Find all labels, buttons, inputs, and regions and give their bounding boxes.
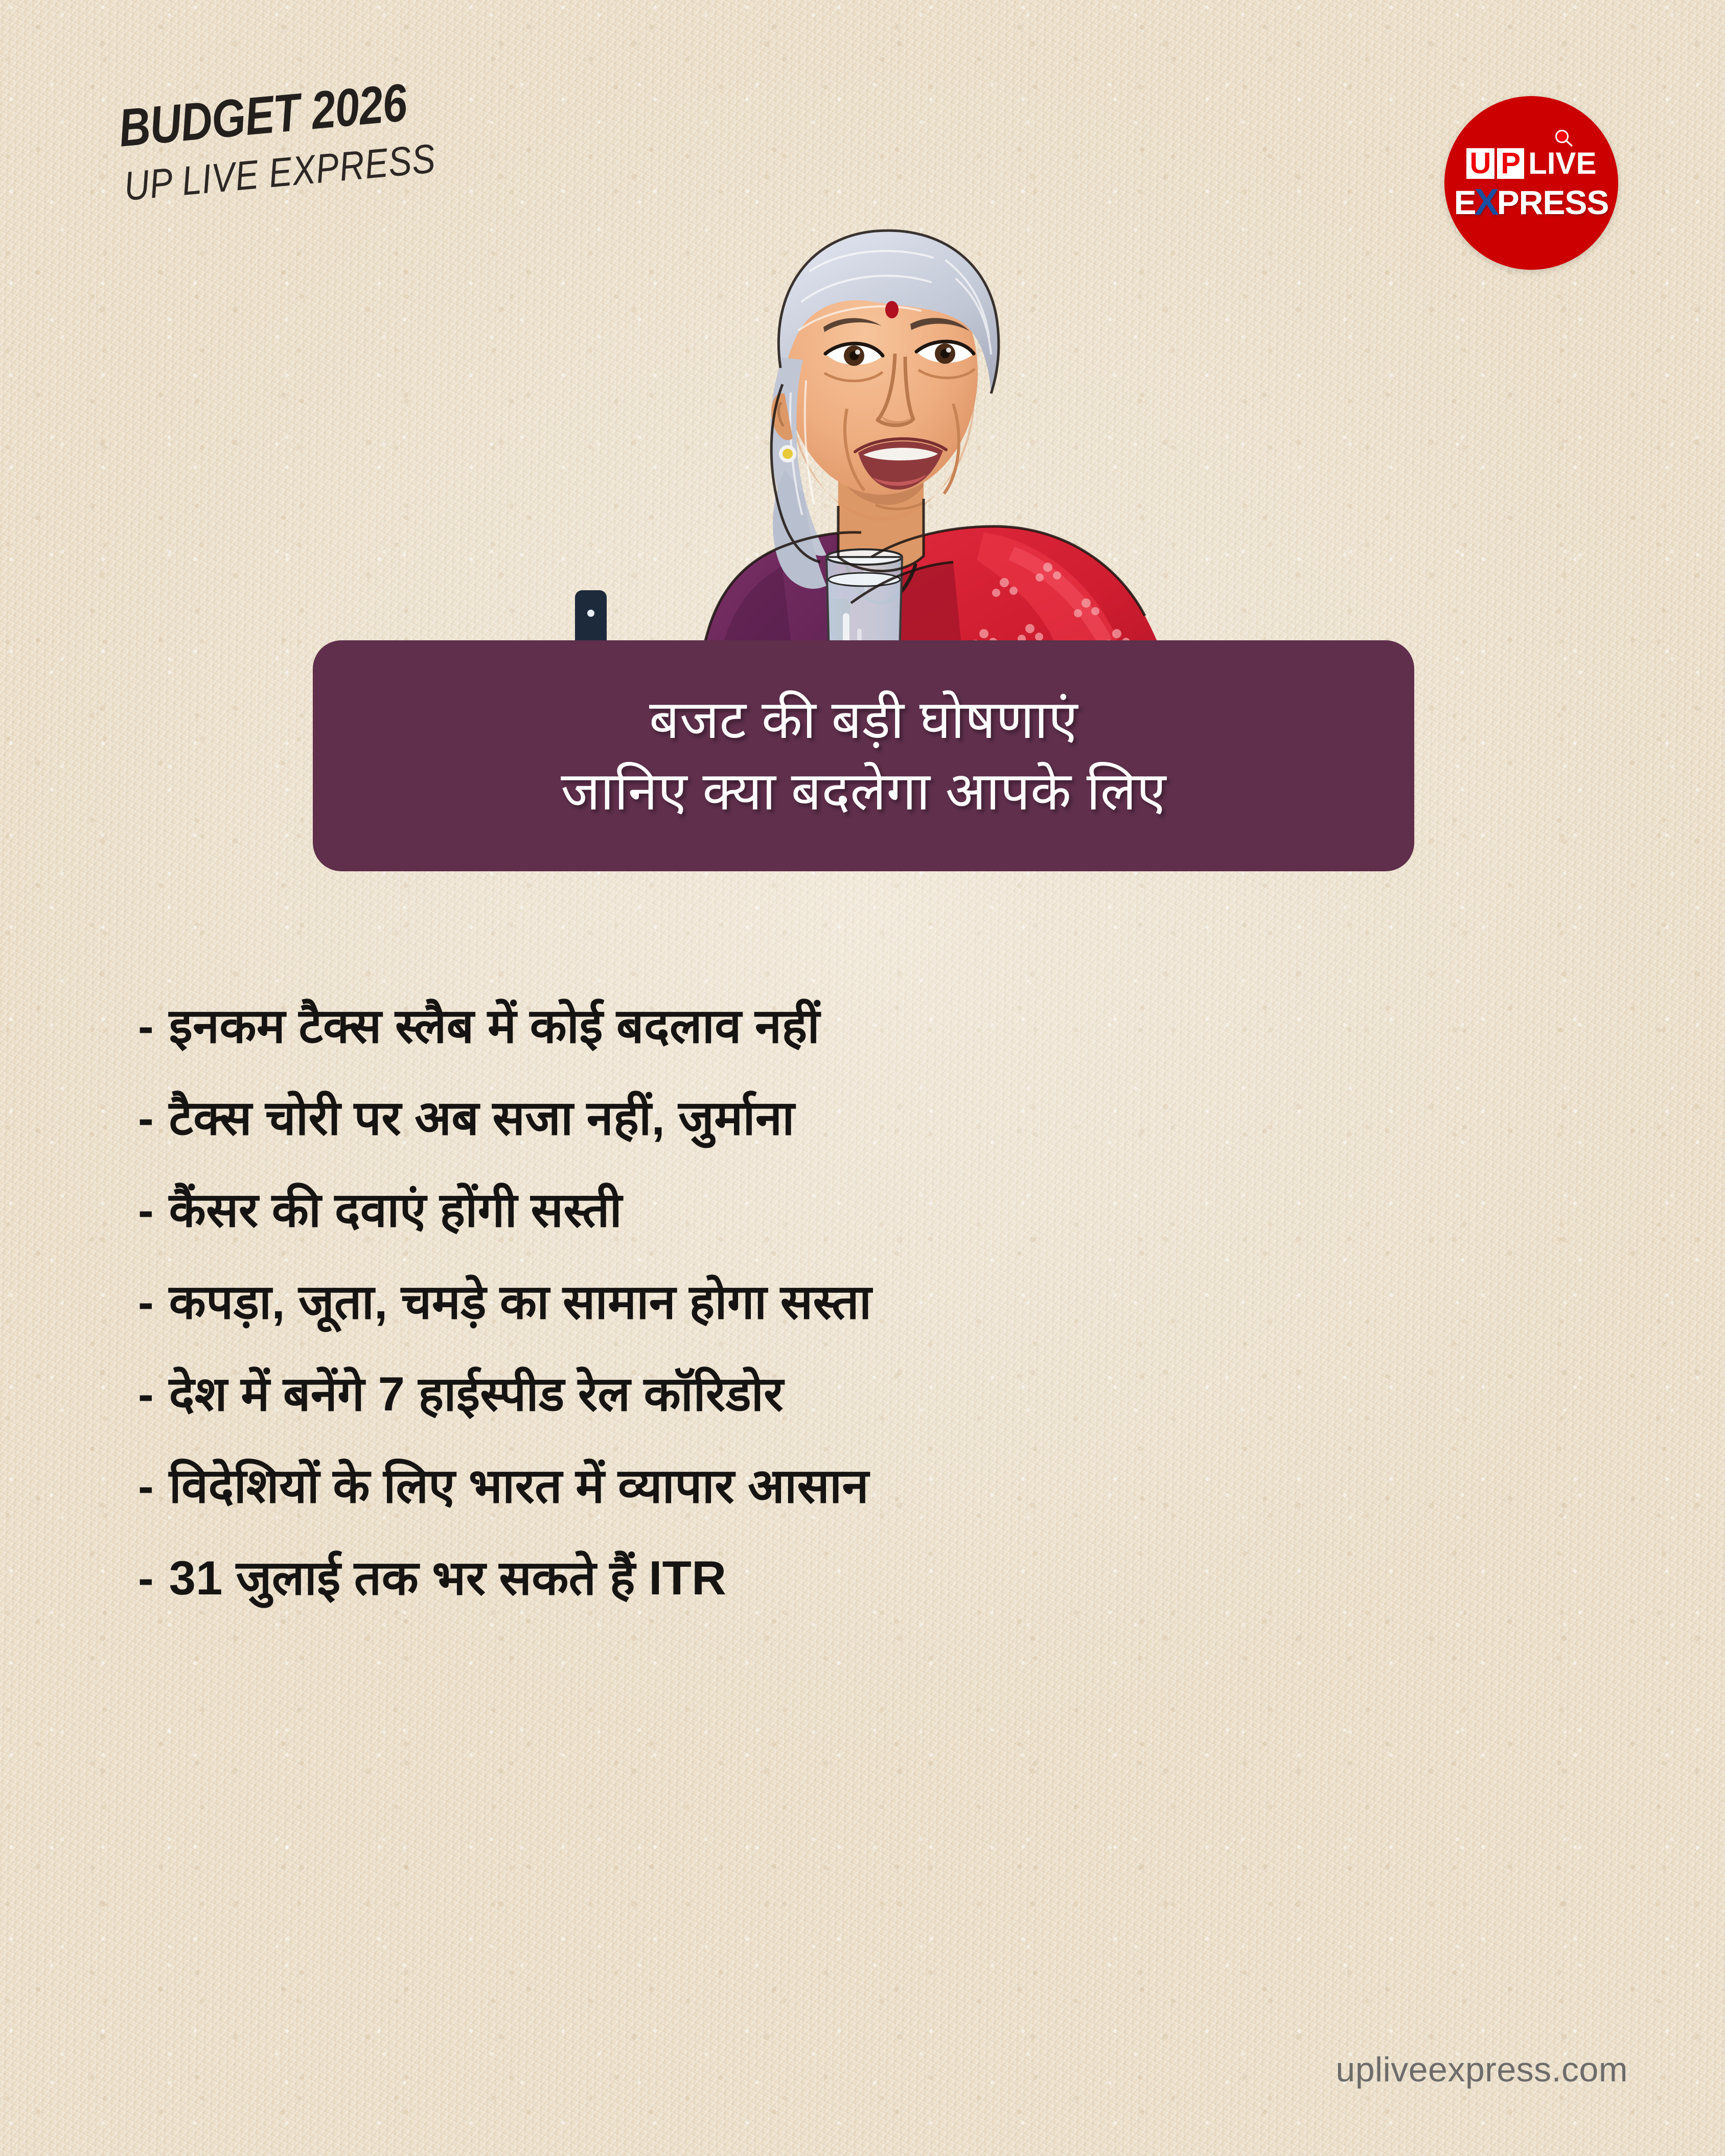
headline-banner: बजट की बड़ी घोषणाएं जानिए क्या बदलेगा आप…	[313, 640, 1414, 871]
bullet-dash-icon: -	[138, 1003, 154, 1050]
bullet-dash-icon: -	[138, 1555, 154, 1602]
bullet-dash-icon: -	[138, 1371, 154, 1418]
announcement-text: देश में बनेंगे 7 हाईस्पीड रेल कॉरिडोर	[169, 1367, 784, 1421]
earring-stone	[783, 449, 793, 459]
uplive-express-logo[interactable]: U P LIVE EXPRESS	[1444, 96, 1618, 270]
brand-header: BUDGET 2026 UP LIVE EXPRESS	[117, 69, 492, 207]
logo-line-express: EXPRESS	[1444, 186, 1618, 219]
list-item: - विदेशियों के लिए भारत में व्यापार आसान	[138, 1459, 1620, 1551]
logo-word-live: LIVE	[1528, 148, 1596, 179]
list-item: - टैक्स चोरी पर अब सजा नहीं, जुर्माना	[138, 1091, 1620, 1183]
headline-line-1: बजट की बड़ी घोषणाएं	[649, 692, 1078, 748]
announcement-text: टैक्स चोरी पर अब सजा नहीं, जुर्माना	[169, 1091, 795, 1145]
list-item: - देश में बनेंगे 7 हाईस्पीड रेल कॉरिडोर	[138, 1367, 1620, 1459]
bullet-dash-icon: -	[138, 1463, 154, 1510]
announcement-text: इनकम टैक्स स्लैब में कोई बदलाव नहीं	[169, 999, 820, 1053]
list-item: - 31 जुलाई तक भर सकते हैं ITR	[138, 1551, 1620, 1643]
logo-line-uplive: U P LIVE	[1444, 147, 1618, 179]
announcement-list: - इनकम टैक्स स्लैब में कोई बदलाव नहीं - …	[138, 999, 1620, 1643]
website-url[interactable]: upliveexpress.com	[1336, 2050, 1628, 2090]
infographic-poster: BUDGET 2026 UP LIVE EXPRESS U P LIVE EXP…	[0, 0, 1725, 2156]
logo-live-text: LIVE	[1528, 146, 1596, 180]
magnifier-icon	[1555, 130, 1573, 147]
headline-line-2: जानिए क्या बदलेगा आपके लिए	[561, 763, 1166, 820]
finance-minister-portrait	[544, 153, 1209, 715]
announcement-text: 31 जुलाई तक भर सकते हैं ITR	[169, 1551, 727, 1605]
logo-letter-u: U	[1466, 148, 1495, 179]
logo-express-part2: PRESS	[1497, 186, 1609, 219]
announcement-text: कैंसर की दवाएं होंगी सस्ती	[169, 1183, 622, 1237]
announcement-text: कपड़ा, जूता, चमड़े का सामान होगा सस्ता	[169, 1275, 872, 1329]
list-item: - इनकम टैक्स स्लैब में कोई बदलाव नहीं	[138, 999, 1620, 1091]
bullet-dash-icon: -	[138, 1187, 154, 1234]
logo-express-letter-x: X	[1475, 186, 1499, 219]
bullet-dash-icon: -	[138, 1279, 154, 1326]
list-item: - कैंसर की दवाएं होंगी सस्ती	[138, 1183, 1620, 1275]
announcement-text: विदेशियों के लिए भारत में व्यापार आसान	[169, 1459, 869, 1513]
logo-letter-p: P	[1497, 148, 1524, 179]
list-item: - कपड़ा, जूता, चमड़े का सामान होगा सस्ता	[138, 1275, 1620, 1367]
bullet-dash-icon: -	[138, 1095, 154, 1142]
logo-express-part1: E	[1454, 186, 1476, 219]
bindi	[885, 301, 899, 318]
